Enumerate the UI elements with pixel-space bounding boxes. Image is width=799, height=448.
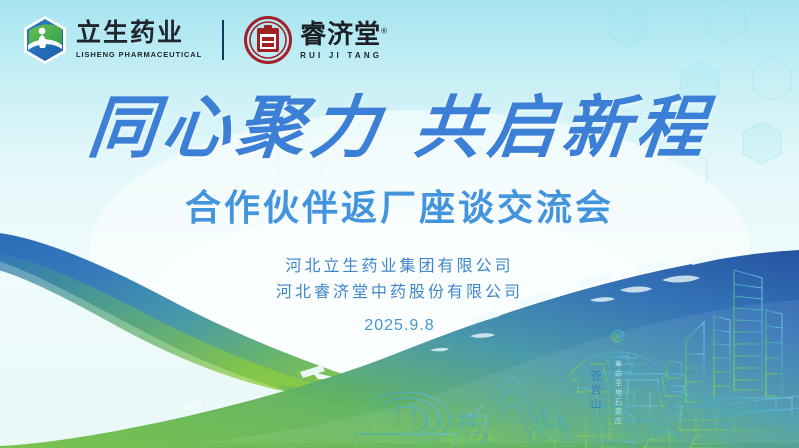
page-subtitle: 合作伙伴返厂座谈交流会 (0, 186, 799, 229)
logo-lisheng-name-cn: 立生药业 (76, 21, 202, 46)
skyline-landmark-label: 苍岩山 (585, 370, 603, 412)
event-date: 2025.9.8 (0, 317, 799, 335)
organization-line: 河北睿济堂中药股份有限公司 (0, 280, 799, 306)
logo-ruijitang-text: 睿济堂 (300, 19, 381, 49)
poster-canvas: 立生药业 LISHENG PHARMACEUTICAL (0, 0, 799, 448)
logo-lisheng: 立生药业 LISHENG PHARMACEUTICAL (22, 15, 202, 65)
poster-content: 立生药业 LISHENG PHARMACEUTICAL (0, 0, 799, 448)
header-logos: 立生药业 LISHENG PHARMACEUTICAL (22, 16, 388, 64)
organization-line: 河北立生药业集团有限公司 (0, 254, 799, 280)
logo-ruijitang-name-cn: 睿济堂® (300, 21, 388, 47)
logo-lisheng-name-en: LISHENG PHARMACEUTICAL (76, 50, 202, 59)
logo-ruijitang: 睿济堂® RUI JI TANG (244, 16, 388, 64)
round-seal-logo (244, 16, 292, 64)
monument-inscription: 革命圣地石家庄 (612, 360, 624, 427)
page-title: 同心聚力 共启新程 (0, 94, 799, 162)
logo-divider (222, 20, 224, 60)
hexagon-leaf-mountain-logo (22, 15, 68, 65)
registered-mark-icon: ® (381, 26, 388, 35)
organization-list: 河北立生药业集团有限公司 河北睿济堂中药股份有限公司 (0, 254, 799, 306)
logo-ruijitang-name-en: RUI JI TANG (300, 51, 388, 60)
